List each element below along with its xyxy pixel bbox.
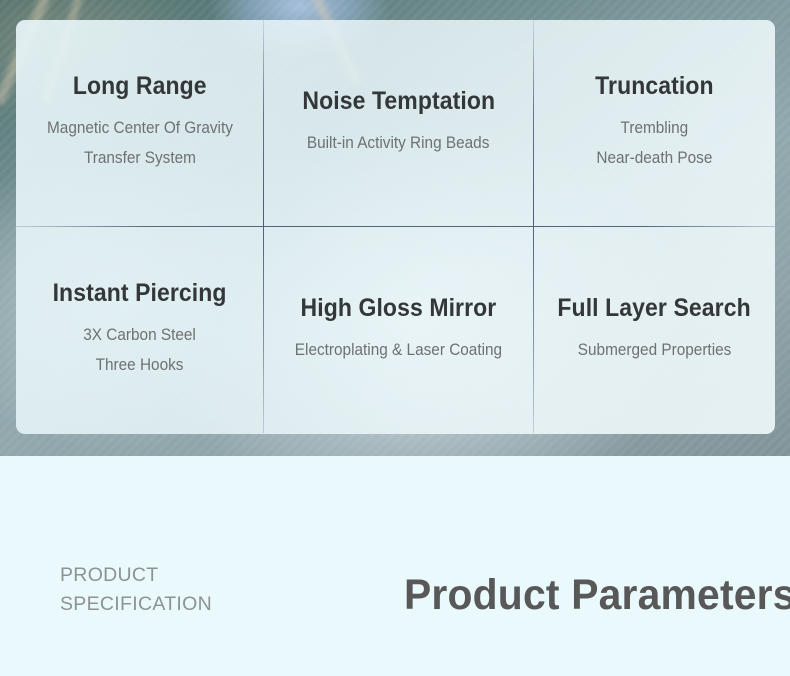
product-detail-page: Long Range Magnetic Center Of Gravity Tr…	[0, 0, 790, 676]
spec-section-title: Product Parameters	[404, 571, 790, 620]
spec-eyebrow-label: PRODUCT SPECIFICATION	[60, 561, 290, 620]
feature-cell-truncation: Truncation Trembling Near-death Pose	[534, 20, 775, 226]
feature-subtitle: Submerged Properties	[578, 336, 732, 365]
feature-subtitle: Trembling Near-death Pose	[596, 114, 712, 173]
feature-hero-section: Long Range Magnetic Center Of Gravity Tr…	[0, 0, 790, 456]
feature-cell-high-gloss-mirror: High Gloss Mirror Electroplating & Laser…	[264, 227, 533, 433]
feature-cell-noise-temptation: Noise Temptation Built-in Activity Ring …	[264, 20, 533, 226]
feature-cell-long-range: Long Range Magnetic Center Of Gravity Tr…	[16, 20, 263, 226]
feature-title: Full Layer Search	[558, 295, 751, 321]
feature-subtitle: Electroplating & Laser Coating	[295, 336, 502, 365]
feature-subtitle: Built-in Activity Ring Beads	[307, 129, 490, 158]
feature-subtitle: 3X Carbon Steel Three Hooks	[83, 321, 196, 380]
feature-title: High Gloss Mirror	[301, 295, 497, 321]
feature-title: Instant Piercing	[52, 280, 226, 306]
feature-card: Long Range Magnetic Center Of Gravity Tr…	[16, 20, 775, 434]
feature-subtitle: Magnetic Center Of Gravity Transfer Syst…	[47, 114, 233, 173]
feature-title: Long Range	[73, 73, 207, 99]
feature-title: Truncation	[595, 73, 713, 99]
feature-cell-instant-piercing: Instant Piercing 3X Carbon Steel Three H…	[16, 227, 263, 433]
feature-title: Noise Temptation	[302, 88, 495, 114]
feature-grid: Long Range Magnetic Center Of Gravity Tr…	[16, 20, 775, 434]
feature-cell-full-layer-search: Full Layer Search Submerged Properties	[534, 227, 775, 433]
